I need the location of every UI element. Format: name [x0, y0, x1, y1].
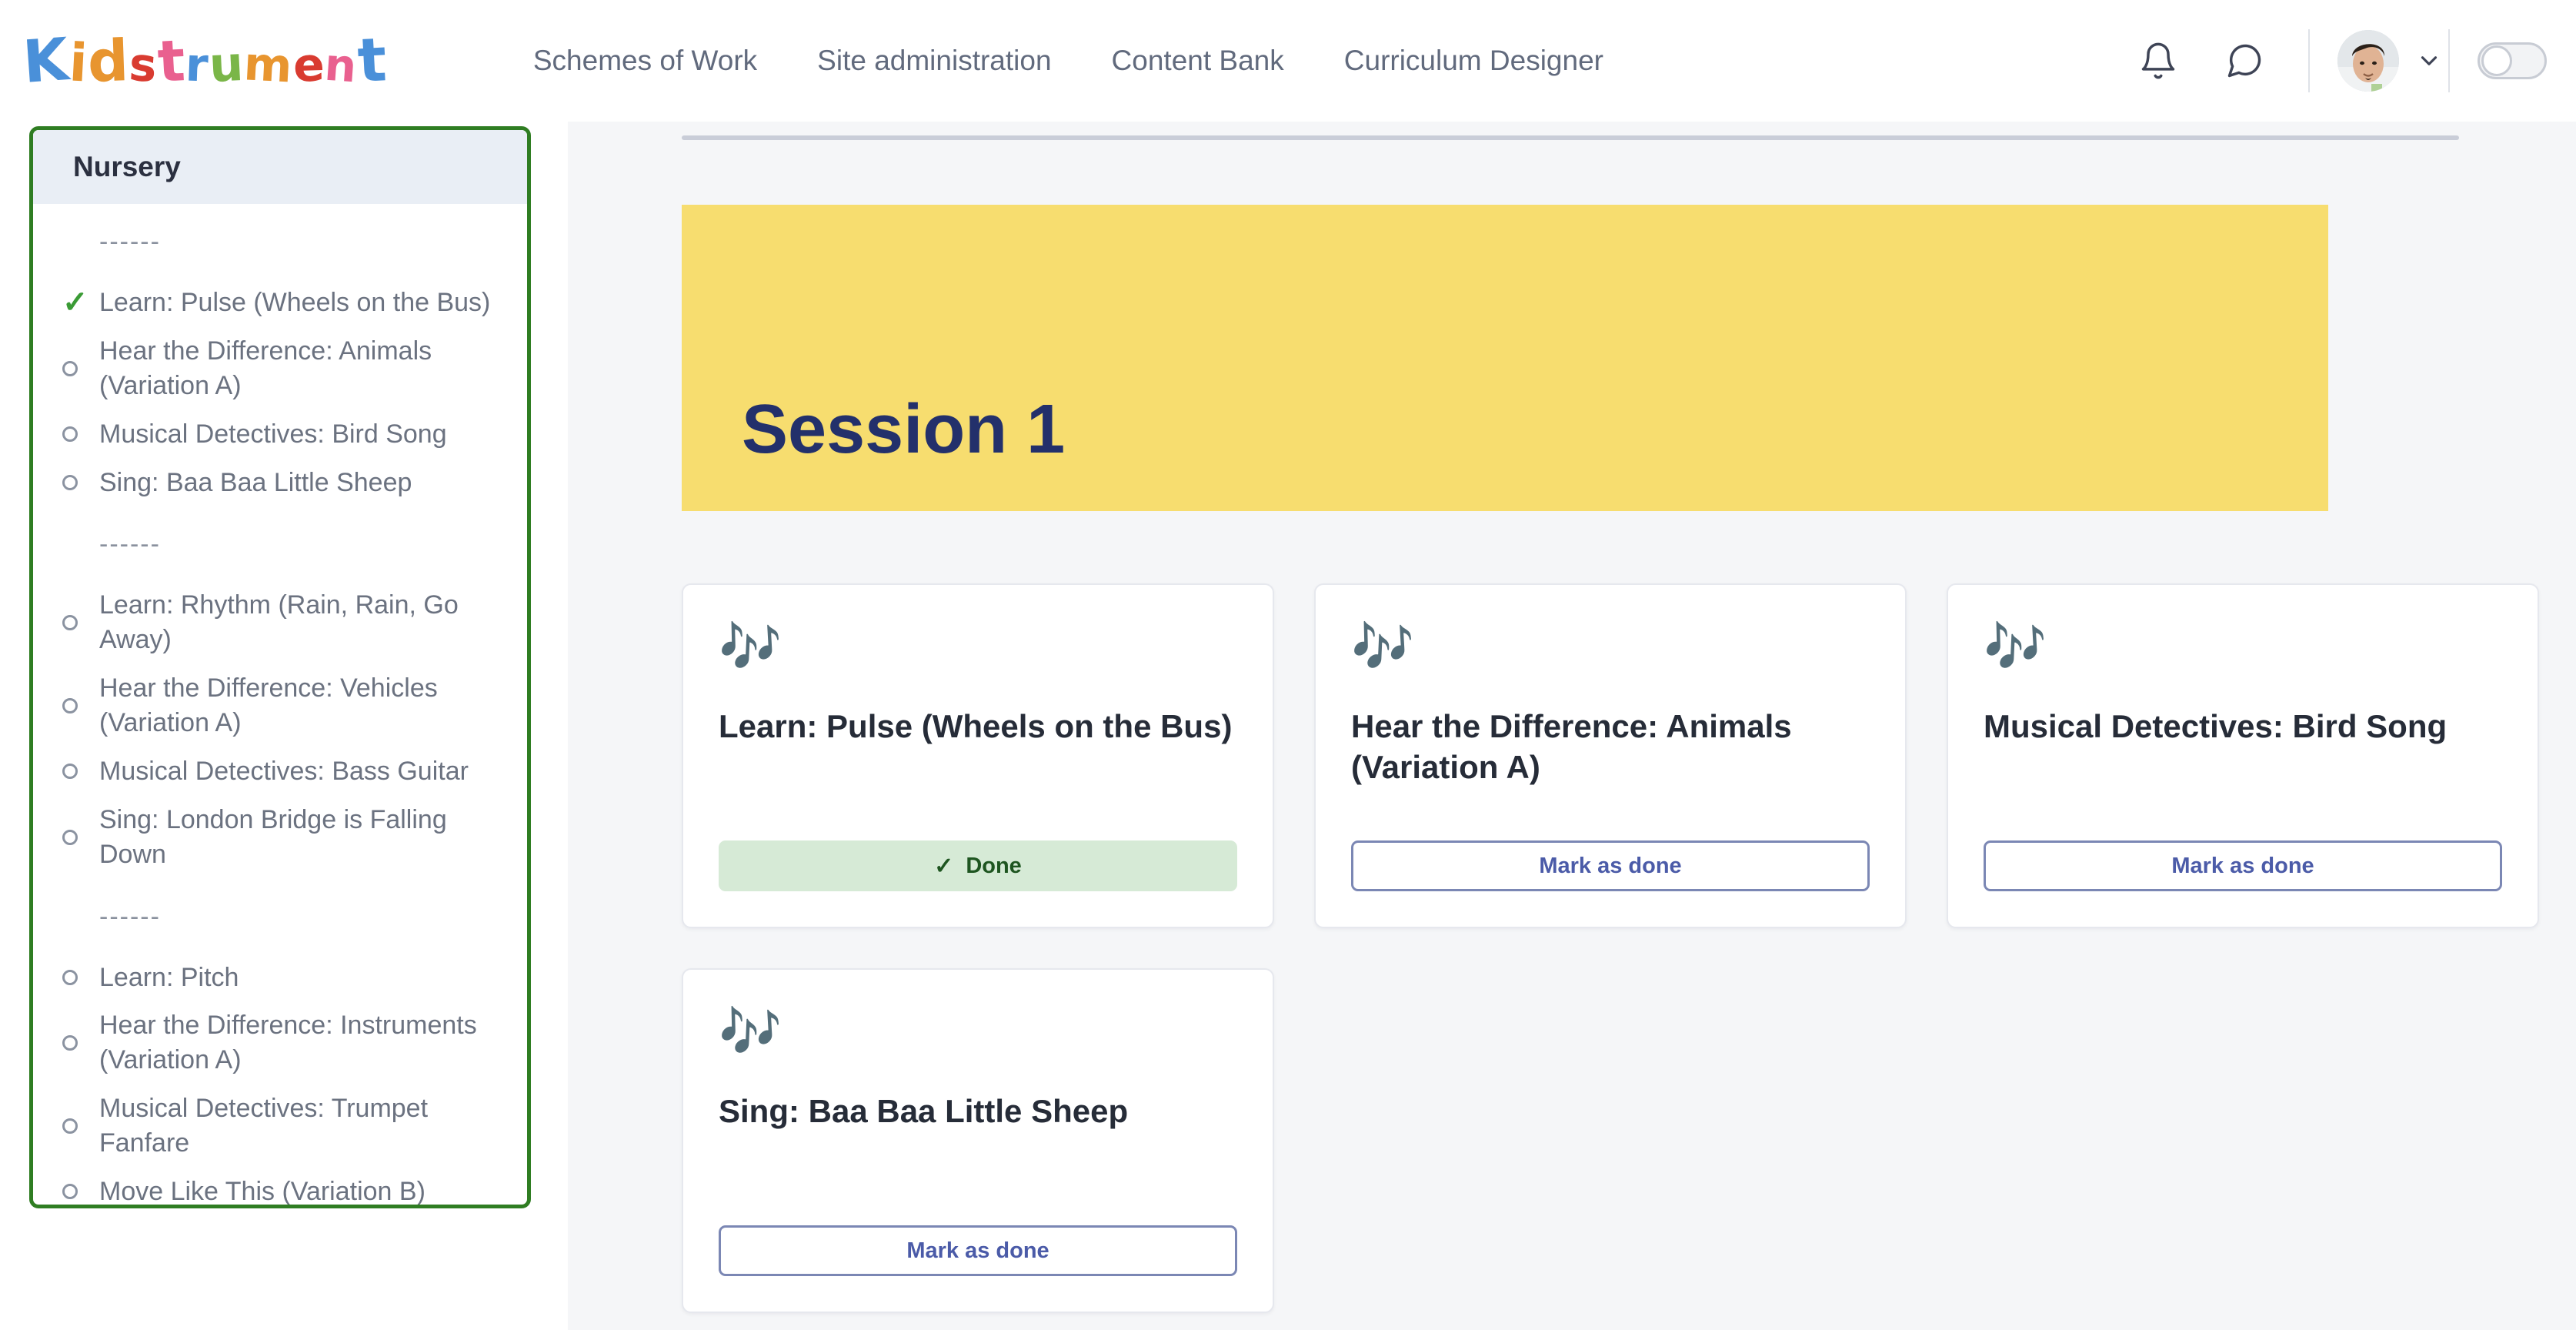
circle-glyph: [62, 1118, 78, 1134]
circle-glyph: [62, 1184, 78, 1199]
button-label: Done: [966, 854, 1022, 879]
sidebar-item[interactable]: Hear the Difference: Vehicles (Variation…: [33, 664, 527, 747]
sidebar-item[interactable]: Move Like This (Variation B): [33, 1168, 527, 1208]
circle-icon: [62, 698, 88, 713]
sidebar-item[interactable]: Musical Detectives: Bird Song: [33, 410, 527, 459]
activity-card-title: Hear the Difference: Animals (Variation …: [1351, 707, 1870, 788]
circle-icon: [62, 1035, 88, 1051]
circle-glyph: [62, 615, 78, 630]
circle-glyph: [62, 361, 78, 376]
check-icon: ✓: [62, 287, 88, 318]
circle-icon: [62, 1118, 88, 1134]
circle-glyph: [62, 1035, 78, 1051]
sidebar-separator: ------: [33, 506, 527, 581]
sidebar-header: Nursery: [33, 130, 527, 204]
sidebar-item[interactable]: Hear the Difference: Instruments (Variat…: [33, 1001, 527, 1084]
circle-icon: [62, 970, 88, 985]
edit-mode-toggle[interactable]: [2478, 42, 2547, 79]
music-notes-icon: 🎶: [1351, 622, 1870, 679]
logo-letter-9: n: [323, 42, 359, 89]
music-notes-icon: 🎶: [1984, 622, 2502, 679]
top-divider: [682, 135, 2459, 140]
app-logo[interactable]: Kidstrument: [23, 31, 387, 91]
check-glyph: ✓: [62, 287, 88, 318]
activity-card[interactable]: 🎶Musical Detectives: Bird SongMark as do…: [1947, 583, 2539, 928]
circle-icon: [62, 426, 88, 442]
done-button[interactable]: ✓Done: [719, 840, 1237, 891]
sidebar-item[interactable]: Sing: Baa Baa Little Sheep: [33, 459, 527, 507]
activity-card[interactable]: 🎶Hear the Difference: Animals (Variation…: [1314, 583, 1907, 928]
sidebar-item-label: Learn: Pulse (Wheels on the Bus): [99, 286, 490, 320]
logo-letter-7: m: [243, 41, 295, 89]
button-label: Mark as done: [1539, 854, 1681, 879]
activity-card-title: Sing: Baa Baa Little Sheep: [719, 1091, 1237, 1132]
check-icon: ✓: [934, 853, 953, 880]
sidebar-item-label: Learn: Pitch: [99, 961, 239, 995]
logo-letter-0: K: [21, 30, 71, 92]
logo-letter-3: s: [128, 42, 159, 89]
sidebar-item-label: Sing: London Bridge is Falling Down: [99, 803, 507, 872]
sidebar-item[interactable]: Sing: London Bridge is Falling Down: [33, 796, 527, 879]
circle-icon: [62, 1184, 88, 1199]
sidebar-item-label: Sing: Baa Baa Little Sheep: [99, 466, 412, 500]
circle-icon: [62, 361, 88, 376]
main-content: Session 1 🎶Learn: Pulse (Wheels on the B…: [568, 122, 2576, 1330]
mark-as-done-button[interactable]: Mark as done: [1984, 840, 2502, 891]
main-nav: Schemes of WorkSite administrationConten…: [533, 45, 1603, 77]
sidebar-item[interactable]: Musical Detectives: Trumpet Fanfare: [33, 1084, 527, 1168]
music-notes-icon: 🎶: [719, 1007, 1237, 1064]
logo-letter-6: u: [208, 40, 245, 89]
sidebar-separator: ------: [33, 879, 527, 954]
circle-glyph: [62, 970, 78, 985]
logo-letter-10: t: [356, 30, 389, 92]
sidebar-item-label: Hear the Difference: Vehicles (Variation…: [99, 671, 507, 740]
sidebar-title: Nursery: [73, 151, 181, 183]
nav-site-administration[interactable]: Site administration: [817, 45, 1051, 77]
toggle-knob: [2481, 45, 2512, 76]
logo-letter-4: t: [156, 32, 187, 91]
button-label: Mark as done: [906, 1238, 1049, 1264]
sidebar-item[interactable]: Learn: Rhythm (Rain, Rain, Go Away): [33, 581, 527, 664]
bell-icon[interactable]: [2130, 32, 2187, 89]
sidebar-column: Nursery ------✓Learn: Pulse (Wheels on t…: [0, 122, 568, 1330]
logo-letter-1: i: [68, 37, 89, 90]
sidebar-item[interactable]: Musical Detectives: Bass Guitar: [33, 747, 527, 796]
logo-letter-2: d: [87, 32, 131, 91]
sidebar-activity-list: ------✓Learn: Pulse (Wheels on the Bus)H…: [33, 204, 527, 1208]
sidebar-item-label: Hear the Difference: Instruments (Variat…: [99, 1008, 507, 1078]
header-actions: [2130, 0, 2547, 122]
circle-glyph: [62, 698, 78, 713]
circle-glyph: [62, 426, 78, 442]
chevron-down-icon[interactable]: [2416, 48, 2442, 74]
sidebar-item-label: Musical Detectives: Bird Song: [99, 417, 447, 452]
header-divider-2: [2448, 29, 2450, 92]
music-notes-icon: 🎶: [719, 622, 1237, 679]
sidebar-item[interactable]: Learn: Pitch: [33, 954, 527, 1002]
circle-icon: [62, 764, 88, 779]
activity-card-title: Musical Detectives: Bird Song: [1984, 707, 2502, 747]
activity-card[interactable]: 🎶Learn: Pulse (Wheels on the Bus)✓Done: [682, 583, 1274, 928]
sidebar-item[interactable]: Hear the Difference: Animals (Variation …: [33, 327, 527, 410]
circle-icon: [62, 475, 88, 490]
activity-card-grid: 🎶Learn: Pulse (Wheels on the Bus)✓Done🎶H…: [682, 583, 2551, 1313]
mark-as-done-button[interactable]: Mark as done: [1351, 840, 1870, 891]
sidebar-item-label: Musical Detectives: Bass Guitar: [99, 754, 469, 789]
mark-as-done-button[interactable]: Mark as done: [719, 1225, 1237, 1276]
nav-content-bank[interactable]: Content Bank: [1112, 45, 1284, 77]
nav-schemes-of-work[interactable]: Schemes of Work: [533, 45, 757, 77]
page-title: Session 1: [742, 390, 1065, 470]
sidebar-item-label: Musical Detectives: Trumpet Fanfare: [99, 1091, 507, 1161]
circle-icon: [62, 615, 88, 630]
activity-card-title: Learn: Pulse (Wheels on the Bus): [719, 707, 1237, 747]
logo-letter-8: e: [292, 42, 326, 89]
page-body: Nursery ------✓Learn: Pulse (Wheels on t…: [0, 122, 2576, 1330]
circle-glyph: [62, 764, 78, 779]
avatar[interactable]: [2337, 30, 2399, 92]
sidebar-item-label: Hear the Difference: Animals (Variation …: [99, 334, 507, 403]
sidebar-separator: ------: [33, 204, 527, 279]
app-header: Kidstrument Schemes of WorkSite administ…: [0, 0, 2576, 122]
nav-curriculum-designer[interactable]: Curriculum Designer: [1344, 45, 1603, 77]
course-index-panel: Nursery ------✓Learn: Pulse (Wheels on t…: [29, 126, 531, 1208]
circle-glyph: [62, 830, 78, 845]
header-divider-1: [2308, 29, 2310, 92]
chat-bubble-icon[interactable]: [2216, 32, 2273, 89]
button-label: Mark as done: [2171, 854, 2314, 879]
session-banner: Session 1: [682, 205, 2328, 511]
sidebar-item[interactable]: ✓Learn: Pulse (Wheels on the Bus): [33, 279, 527, 327]
activity-card[interactable]: 🎶Sing: Baa Baa Little SheepMark as done: [682, 968, 1274, 1313]
circle-glyph: [62, 475, 78, 490]
sidebar-item-label: Learn: Rhythm (Rain, Rain, Go Away): [99, 588, 507, 657]
sidebar-item-label: Move Like This (Variation B): [99, 1175, 425, 1208]
logo-letter-5: r: [185, 42, 210, 89]
circle-icon: [62, 830, 88, 845]
